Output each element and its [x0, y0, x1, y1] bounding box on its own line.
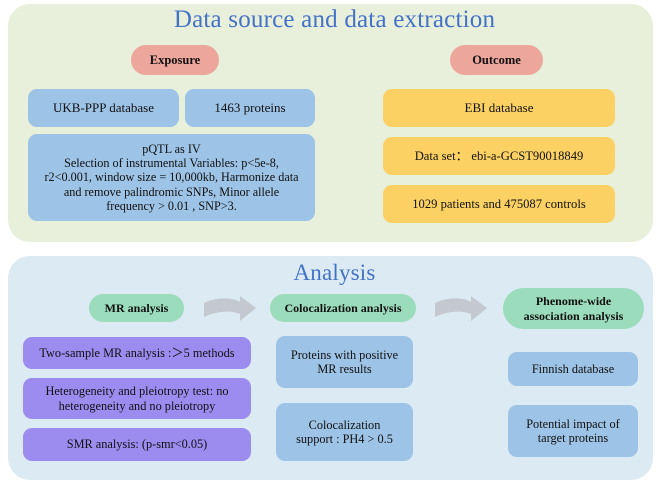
outcome-pill: Outcome — [450, 45, 543, 75]
box-patients-controls: 1029 patients and 475087 controls — [383, 185, 615, 223]
header-phenome-wide-association-analysis: Phenome-wide association analysis — [503, 288, 644, 329]
exposure-pill: Exposure — [131, 45, 219, 75]
arrow-colocalization-to-phenome — [433, 295, 489, 325]
box-ebi-database: EBI database — [383, 89, 615, 127]
section-title-analysis: Analysis — [0, 260, 669, 286]
box-finnish-database: Finnish database — [508, 352, 638, 386]
header-colocalization-analysis: Colocalization analysis — [270, 294, 416, 322]
box-smr-analysis: SMR analysis: (p-smr<0.05) — [23, 428, 251, 461]
flowchart-canvas: Data source and data extraction Exposure… — [0, 0, 669, 484]
box-heterogeneity-pleiotropy-test: Heterogeneity and pleiotropy test: no he… — [23, 378, 251, 419]
section-title-data-source: Data source and data extraction — [0, 6, 669, 34]
arrow-mr-to-colocalization — [202, 295, 258, 325]
box-potential-impact-target-proteins: Potential impact of target proteins — [508, 405, 638, 457]
box-pqtl-as-iv: pQTL as IV Selection of instrumental Var… — [28, 134, 315, 221]
header-mr-analysis: MR analysis — [89, 294, 184, 322]
box-proteins-positive-mr-results: Proteins with positive MR results — [276, 336, 413, 388]
box-data-set: Data set： ebi-a-GCST90018849 — [383, 137, 615, 175]
box-colocalization-support: Colocalization support : PH4 > 0.5 — [276, 403, 413, 461]
box-two-sample-mr-analysis: Two-sample MR analysis :＞5 methods — [23, 337, 251, 369]
box-ukb-ppp-database: UKB-PPP database — [28, 89, 179, 127]
box-1463-proteins: 1463 proteins — [185, 89, 315, 127]
